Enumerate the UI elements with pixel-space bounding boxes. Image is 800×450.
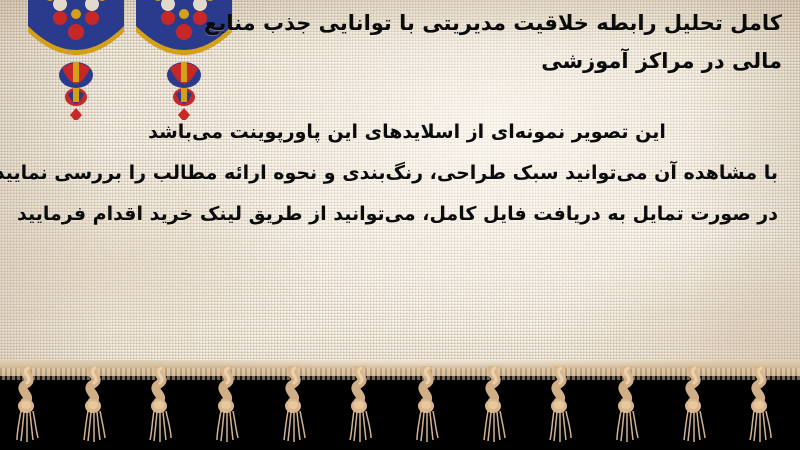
title-line-1: کامل تحلیل رابطه خلاقیت مدیریتی با توانا…: [202, 4, 782, 42]
fringe-tassel: [73, 366, 117, 446]
fringe-tassel: [206, 366, 250, 446]
body-line-2: با مشاهده آن می‌توانید سبک طراحی، رنگ‌بن…: [18, 153, 778, 194]
body-line-1: این تصویر نمونه‌ای از اسلایدهای این پاور…: [18, 112, 778, 153]
fringe-tassel: [6, 366, 50, 446]
slide-canvas: کامل تحلیل رابطه خلاقیت مدیریتی با توانا…: [0, 0, 800, 450]
fringe-tassel: [339, 366, 383, 446]
fringe-tassel: [539, 366, 583, 446]
slide-title: کامل تحلیل رابطه خلاقیت مدیریتی با توانا…: [202, 4, 782, 80]
fringe-tassel: [139, 366, 183, 446]
title-line-2: مالی در مراکز آموزشی: [202, 42, 782, 80]
fringe-tassel: [273, 366, 317, 446]
body-line-3: در صورت تمایل به دریافت فایل کامل، می‌تو…: [18, 194, 778, 235]
fringe-tassel: [606, 366, 650, 446]
fringe-tassel: [406, 366, 450, 446]
fringe-tassel: [673, 366, 717, 446]
persian-medallion-ornament: [22, 0, 130, 120]
fringe-tassel: [739, 366, 783, 446]
fringe-tassel: [473, 366, 517, 446]
carpet-fringe: [0, 360, 800, 450]
slide-body: این تصویر نمونه‌ای از اسلایدهای این پاور…: [18, 112, 778, 235]
